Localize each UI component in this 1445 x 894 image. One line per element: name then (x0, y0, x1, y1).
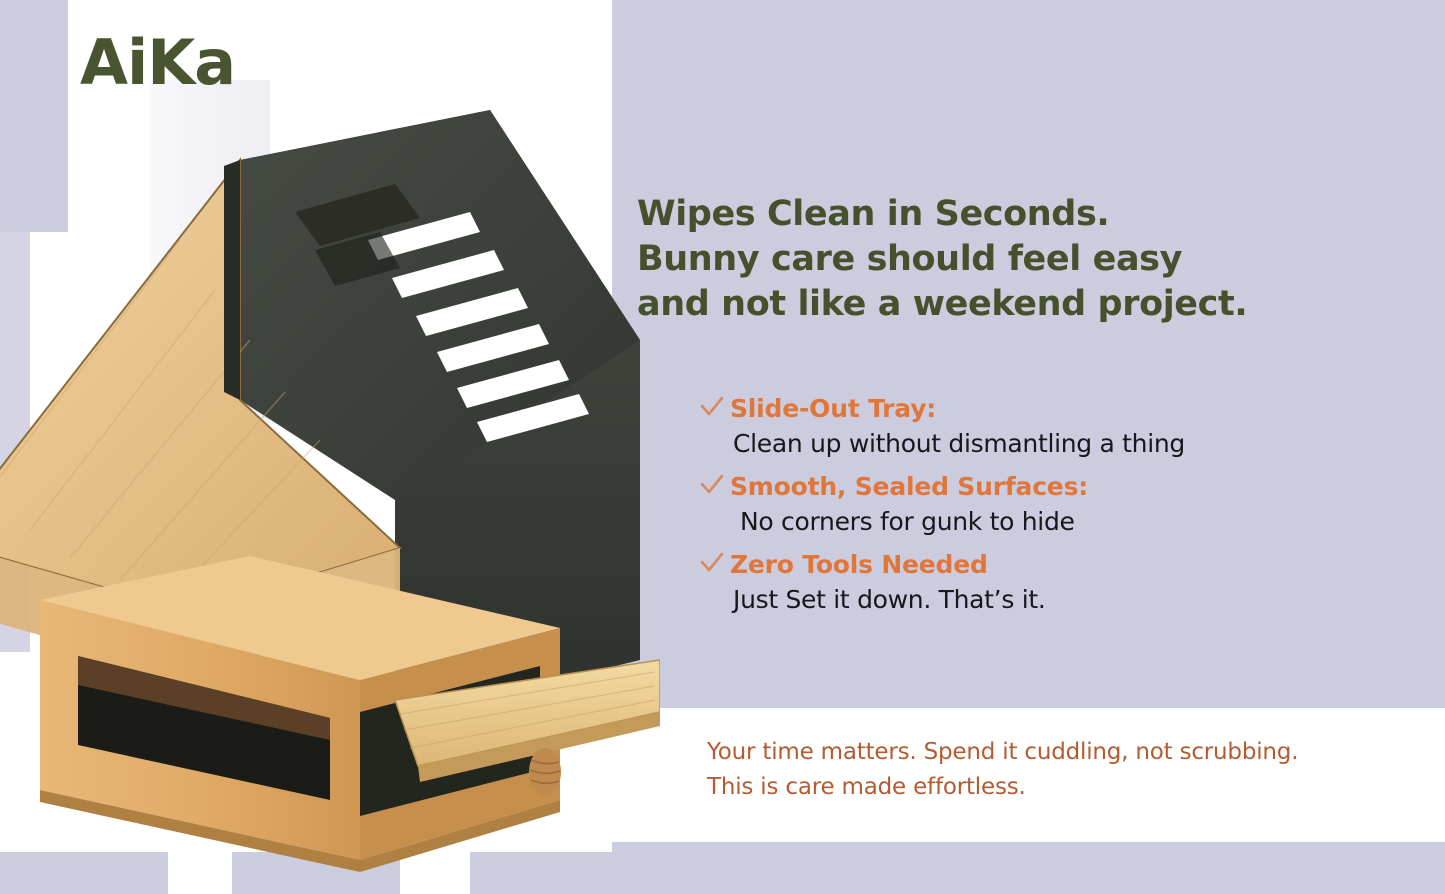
feature-subtitle: Just Set it down. That’s it. (733, 582, 1400, 618)
closing-line-1: Your time matters. Spend it cuddling, no… (707, 735, 1407, 770)
feature-list: Slide-Out Tray: Clean up without dismant… (700, 392, 1400, 626)
headline-line-1: Wipes Clean in Seconds. (637, 192, 1397, 237)
check-icon (700, 470, 730, 501)
feature-title: Zero Tools Needed (730, 548, 988, 581)
check-icon (700, 392, 730, 423)
headline-line-3: and not like a weekend project. (637, 282, 1397, 327)
feature-item: Smooth, Sealed Surfaces: No corners for … (700, 470, 1400, 540)
headline-line-2: Bunny care should feel easy (637, 237, 1397, 282)
closing-copy: Your time matters. Spend it cuddling, no… (707, 735, 1407, 805)
feature-subtitle: Clean up without dismantling a thing (733, 426, 1400, 462)
feature-item: Zero Tools Needed Just Set it down. That… (700, 548, 1400, 618)
background-block-bottom-right (612, 842, 1445, 894)
page-headline: Wipes Clean in Seconds. Bunny care shoul… (637, 192, 1397, 327)
check-icon (700, 548, 730, 579)
feature-title: Slide-Out Tray: (730, 392, 936, 425)
brand-logo: AiKa (80, 32, 235, 94)
feature-subtitle: No corners for gunk to hide (740, 504, 1400, 540)
product-photo (0, 100, 660, 880)
feature-item: Slide-Out Tray: Clean up without dismant… (700, 392, 1400, 462)
feature-title: Smooth, Sealed Surfaces: (730, 470, 1088, 503)
poster-canvas: AiKa (0, 0, 1445, 894)
closing-line-2: This is care made effortless. (707, 770, 1407, 805)
